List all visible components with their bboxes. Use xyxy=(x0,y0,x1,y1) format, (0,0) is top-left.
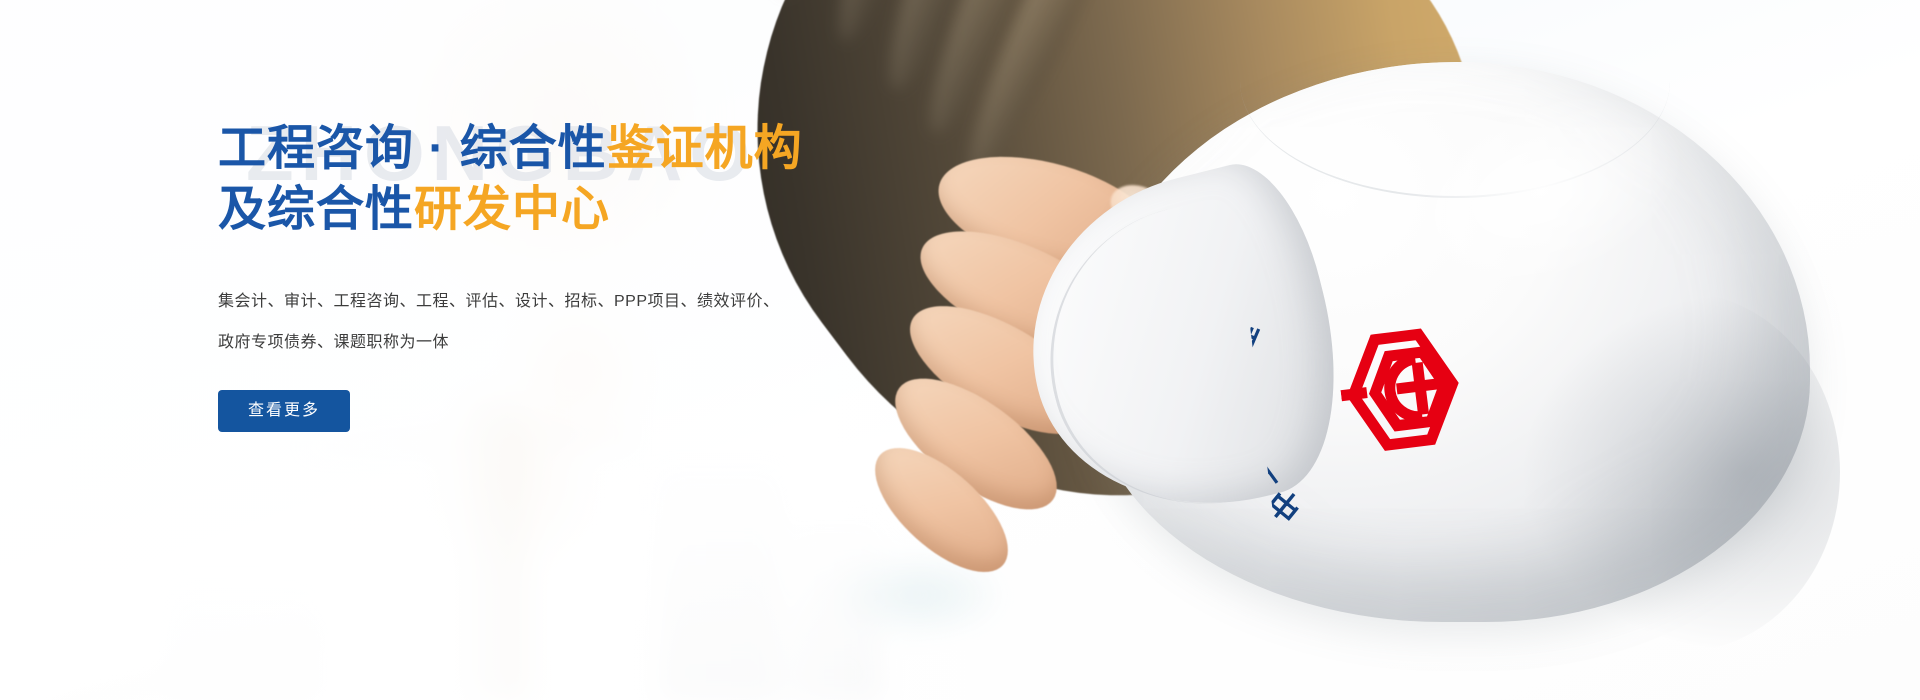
headline-line2-primary: 及综合性 xyxy=(218,183,414,236)
headline-line1-primary: 工程咨询 · 综合性 xyxy=(218,122,607,175)
hero-description: 集会计、审计、工程咨询、工程、评估、设计、招标、PPP项目、绩效评价、 政府专项… xyxy=(218,281,918,364)
view-more-button[interactable]: 查看更多 xyxy=(218,390,350,432)
headline-line-2: 及综合性研发中心 xyxy=(218,179,918,240)
headline-line1-accent: 鉴证机构 xyxy=(607,122,803,175)
helmet-logo: 中宝工程管理 xyxy=(1241,215,1575,549)
headline-line-1: 工程咨询 · 综合性鉴证机构 xyxy=(218,118,918,179)
hero-description-line-2: 政府专项债券、课题职称为一体 xyxy=(218,322,918,364)
arm-photo: 中宝工程管理 xyxy=(760,0,1920,700)
hero-description-line-1: 集会计、审计、工程咨询、工程、评估、设计、招标、PPP项目、绩效评价、 xyxy=(218,281,918,323)
safety-helmet: 中宝工程管理 xyxy=(1090,62,1850,682)
headline-line2-accent: 研发中心 xyxy=(414,183,610,236)
hero-content: ZHONGBAO 工程咨询 · 综合性鉴证机构 及综合性研发中心 集会计、审计、… xyxy=(218,118,918,432)
page-title: 工程咨询 · 综合性鉴证机构 及综合性研发中心 xyxy=(218,118,918,241)
hero-banner: 中宝工程管理 ZHONG xyxy=(0,0,1920,700)
zhongbao-hexagon-logo-icon xyxy=(1334,324,1471,456)
